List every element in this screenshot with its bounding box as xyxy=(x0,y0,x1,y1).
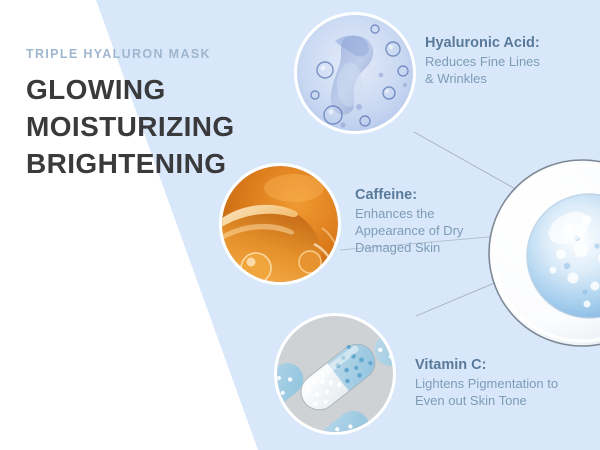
ingredient-caption-hyaluronic: Hyaluronic Acid: Reduces Fine Lines & Wr… xyxy=(425,34,540,88)
headline-line-1: GLOWING xyxy=(26,72,276,109)
blue-gel-bubbles-photo xyxy=(297,15,413,131)
desc-line: Lightens Pigmentation to xyxy=(415,376,558,393)
headline-block: TRIPLE HYALURON MASK GLOWING MOISTURIZIN… xyxy=(26,48,276,183)
ingredient-term-caffeine: Caffeine: xyxy=(355,186,463,205)
ingredient-desc-hyaluronic: Reduces Fine Lines & Wrinkles xyxy=(425,54,540,88)
eyebrow-label: TRIPLE HYALURON MASK xyxy=(26,48,276,62)
headline-line-3: BRIGHTENING xyxy=(26,146,276,183)
ingredient-caption-caffeine: Caffeine: Enhances the Appearance of Dry… xyxy=(355,186,463,257)
ingredient-desc-caffeine: Enhances the Appearance of Dry Damaged S… xyxy=(355,206,463,257)
ingredient-term-vitaminc: Vitamin C: xyxy=(415,356,558,375)
product-jar-image xyxy=(487,158,600,348)
ingredient-caption-vitaminc: Vitamin C: Lightens Pigmentation to Even… xyxy=(415,356,558,410)
blue-white-microbead-capsules-photo xyxy=(277,316,393,432)
ingredient-term-hyaluronic: Hyaluronic Acid: xyxy=(425,34,540,53)
ingredient-image-hyaluronic xyxy=(294,12,416,134)
infographic-canvas: TRIPLE HYALURON MASK GLOWING MOISTURIZIN… xyxy=(0,0,600,450)
headline-line-2: MOISTURIZING xyxy=(26,109,276,146)
desc-line: & Wrinkles xyxy=(425,71,540,88)
desc-line: Enhances the xyxy=(355,206,463,223)
desc-line: Reduces Fine Lines xyxy=(425,54,540,71)
ingredient-image-caffeine xyxy=(219,163,341,285)
amber-oil-bubbles-photo xyxy=(222,166,338,282)
desc-line: Damaged Skin xyxy=(355,240,463,257)
desc-line: Even out Skin Tone xyxy=(415,393,558,410)
ingredient-desc-vitaminc: Lightens Pigmentation to Even out Skin T… xyxy=(415,376,558,410)
desc-line: Appearance of Dry xyxy=(355,223,463,240)
page-title: GLOWING MOISTURIZING BRIGHTENING xyxy=(26,72,276,183)
ingredient-image-vitaminc xyxy=(274,313,396,435)
